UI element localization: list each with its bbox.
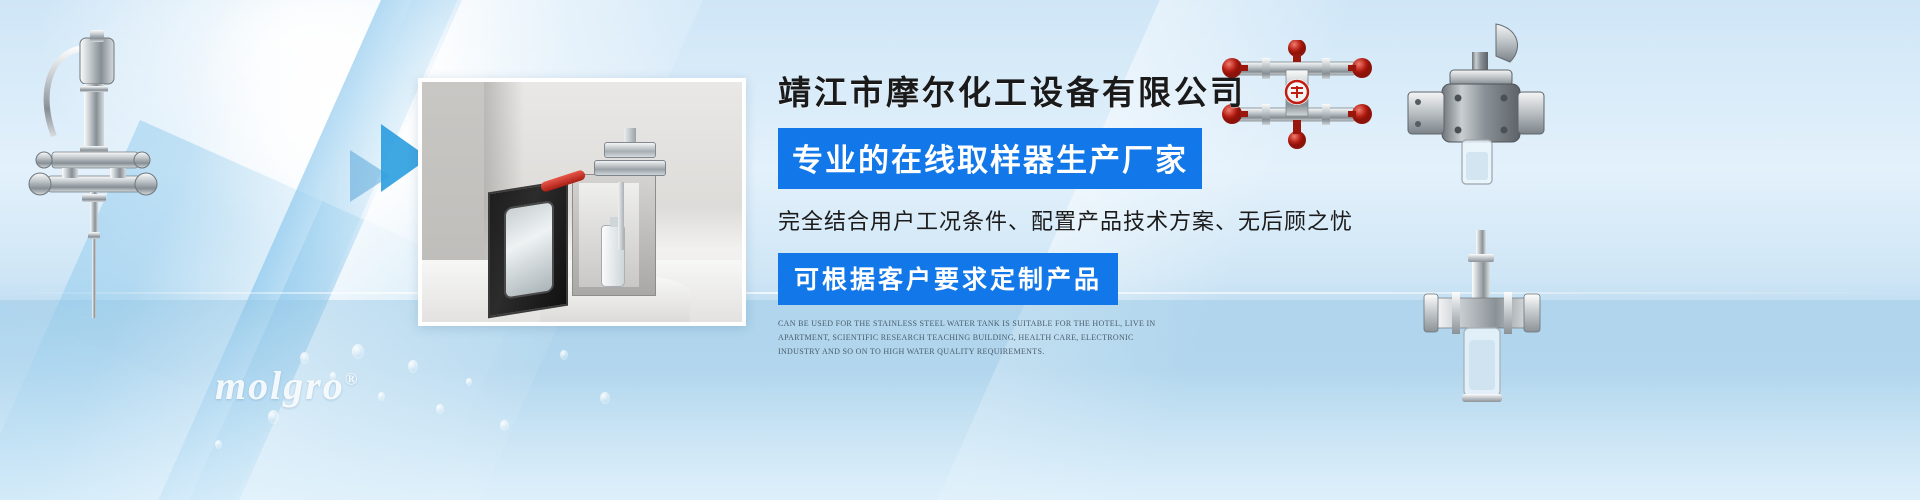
- hero-text-column: 靖江市摩尔化工设备有限公司 专业的在线取样器生产厂家 完全结合用户工况条件、配置…: [778, 74, 1418, 359]
- water-droplet: [215, 440, 222, 449]
- product-photo-card: [418, 78, 746, 326]
- water-droplet: [378, 392, 385, 401]
- right-equipment-flanged-valve: [1400, 22, 1550, 202]
- custom-product-badge: 可根据客户要求定制产品: [778, 253, 1118, 305]
- english-description: Can be used for the stainless steel wate…: [778, 317, 1178, 359]
- company-title: 靖江市摩尔化工设备有限公司: [778, 74, 1418, 115]
- headline-badge: 专业的在线取样器生产厂家: [778, 128, 1202, 189]
- brand-watermark-text: molgro: [215, 363, 345, 408]
- product-photo-image: [422, 82, 742, 322]
- product-hero-banner: 靖江市摩尔化工设备有限公司 专业的在线取样器生产厂家 完全结合用户工况条件、配置…: [0, 0, 1920, 500]
- subheadline-text: 完全结合用户工况条件、配置产品技术方案、无后顾之忧: [778, 204, 1418, 236]
- water-droplet: [268, 410, 279, 424]
- water-droplet: [560, 350, 568, 360]
- water-droplet: [466, 378, 472, 386]
- registered-trademark-icon: ®: [345, 370, 360, 389]
- water-droplet: [352, 344, 364, 359]
- bottom-right-equipment-sanitary-valve: [1418, 228, 1546, 418]
- water-droplet: [436, 404, 444, 414]
- water-droplet: [408, 360, 418, 373]
- water-droplet: [500, 420, 509, 431]
- left-equipment-sampler-probe: [18, 26, 168, 326]
- water-droplet: [600, 392, 610, 404]
- brand-watermark: molgro®: [215, 362, 360, 409]
